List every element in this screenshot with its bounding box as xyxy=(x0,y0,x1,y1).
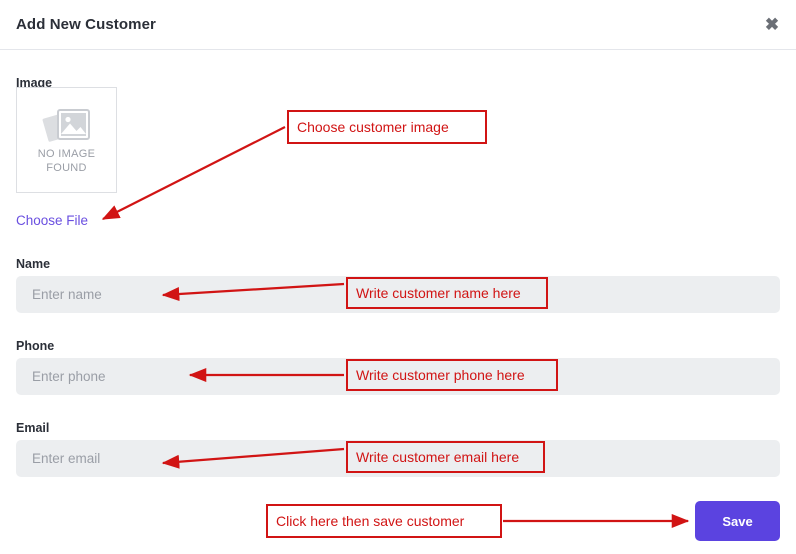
add-customer-modal: Add New Customer ✖ Image NO IMAGE FOUND … xyxy=(0,0,796,554)
no-image-icon xyxy=(40,104,94,152)
page-title: Add New Customer xyxy=(16,16,156,33)
no-image-line-2: FOUND xyxy=(17,162,116,176)
email-input[interactable] xyxy=(16,440,780,477)
image-preview-box[interactable]: NO IMAGE FOUND xyxy=(16,87,117,193)
no-image-line-1: NO IMAGE xyxy=(17,148,116,162)
phone-input[interactable] xyxy=(16,358,780,395)
name-label: Name xyxy=(16,257,50,271)
modal-body: Image NO IMAGE FOUND Choose File Name Ph… xyxy=(0,50,796,554)
choose-file-link[interactable]: Choose File xyxy=(16,213,88,228)
modal-header: Add New Customer ✖ xyxy=(0,0,796,50)
close-icon[interactable]: ✖ xyxy=(761,14,783,36)
no-image-text: NO IMAGE FOUND xyxy=(17,148,116,175)
phone-label: Phone xyxy=(16,339,54,353)
email-label: Email xyxy=(16,421,49,435)
name-input[interactable] xyxy=(16,276,780,313)
save-button[interactable]: Save xyxy=(695,501,780,541)
